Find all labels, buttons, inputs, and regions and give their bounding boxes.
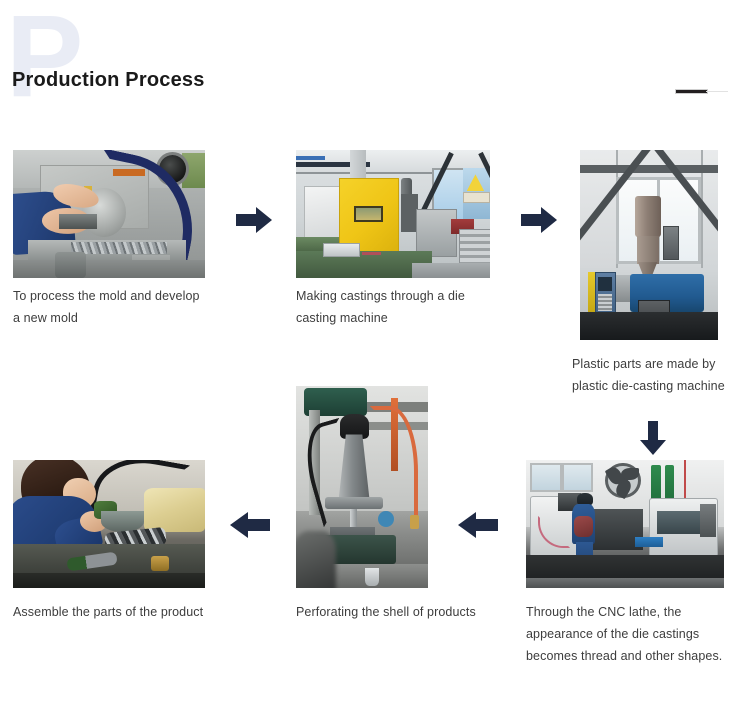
foreground-blur: [296, 531, 336, 588]
step-2-image: [296, 150, 490, 278]
step-1-caption: To process the mold and develop a new mo…: [13, 285, 203, 329]
step-1-image: [13, 150, 205, 278]
white-machine-housing: [304, 186, 343, 239]
plastic-injection-scene: [580, 150, 718, 340]
step-5-image: [296, 386, 428, 588]
worker-apron: [574, 516, 594, 536]
lathe-base: [13, 260, 205, 278]
page-title: Production Process: [12, 69, 205, 92]
lathe-right-window: [657, 511, 701, 534]
cutting-tool: [59, 214, 97, 229]
metal-chips: [71, 242, 167, 254]
header-rule-tail: [706, 91, 728, 92]
brass-fitting: [410, 515, 419, 529]
panel-view-window: [354, 206, 383, 222]
step-6-image: [13, 460, 205, 588]
metal-cup: [365, 568, 380, 586]
step-6-caption: Assemble the parts of the product: [13, 601, 218, 623]
arrow-step5-to-step6: [230, 511, 270, 539]
hopper-control-box: [663, 226, 679, 260]
hopper-midsection: [637, 236, 659, 265]
cnc-workshop-scene: [526, 460, 724, 588]
step-3-caption: Plastic parts are made by plastic die-ca…: [572, 353, 750, 397]
page-header: P Production Process: [0, 0, 750, 125]
material-hopper: [635, 196, 661, 238]
header-rule-accent: [675, 89, 708, 94]
warning-label: [463, 192, 490, 203]
arrow-step2-to-step3: [521, 206, 557, 234]
step-5-caption: Perforating the shell of products: [296, 601, 486, 623]
drill-press-scene: [296, 386, 428, 588]
ceiling-beam: [580, 165, 718, 173]
arrow-step1-to-step2: [236, 206, 272, 234]
step-4-image: [526, 460, 724, 588]
parts-bowl: [101, 511, 143, 531]
arrow-step4-to-step5: [458, 511, 498, 539]
control-console: [323, 243, 360, 257]
console-keypad: [598, 294, 612, 311]
console-screen: [598, 277, 612, 290]
step-2-caption: Making castings through a die casting ma…: [296, 285, 491, 329]
blue-ceiling-strip: [296, 156, 325, 160]
red-wiring: [362, 252, 381, 255]
step-4-caption: Through the CNC lathe, the appearance of…: [526, 601, 736, 667]
step-3-image: [580, 150, 718, 340]
workshop-floor: [526, 578, 724, 588]
lathe-motor: [55, 252, 86, 278]
assembly-scene: [13, 460, 205, 588]
machine-base: [580, 312, 718, 341]
window-right: [562, 463, 594, 493]
lathe-scene: [13, 150, 205, 278]
blue-parts-tray: [635, 537, 663, 547]
arrow-step3-to-step4: [639, 421, 667, 455]
bench-edge: [13, 573, 205, 588]
blue-object: [378, 511, 394, 527]
lathe-right-panel: [700, 504, 716, 537]
factory-floor: [412, 263, 490, 278]
brass-part: [151, 556, 168, 571]
spindle-collar: [325, 497, 383, 509]
watermark-letter: P: [6, 0, 81, 114]
window-left: [530, 463, 562, 493]
die-casting-scene: [296, 150, 490, 278]
